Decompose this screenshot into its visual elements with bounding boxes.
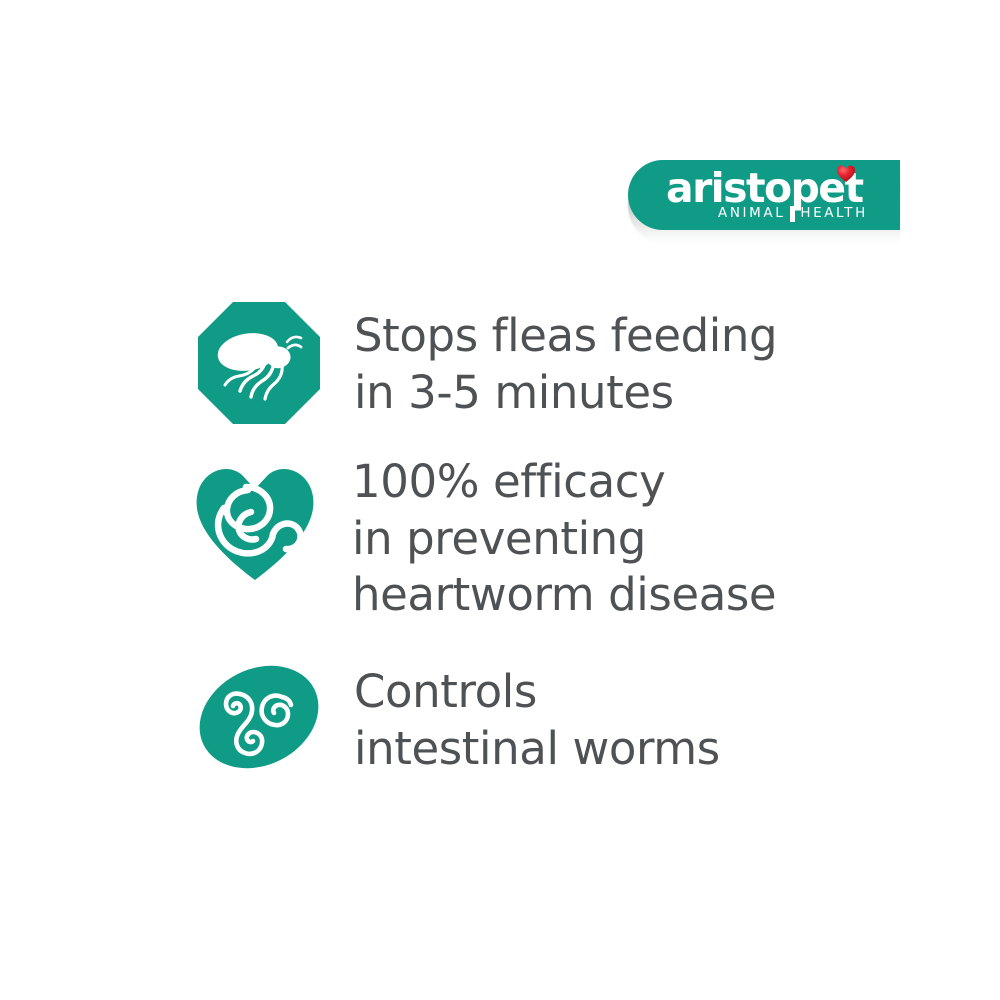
feature-item-intestinal-worms: Controls intestinal worms	[196, 654, 720, 780]
brand-logo-pill: aristopet ® ANIMAL HEALTH	[628, 160, 900, 230]
feature-label-heartworm-efficacy: 100% efficacy in preventing heartworm di…	[322, 452, 776, 624]
brand-tagline: ANIMAL HEALTH	[718, 206, 868, 222]
registered-trademark-symbol: ®	[852, 194, 858, 202]
heart-icon	[835, 162, 857, 184]
flea-stop-octagon-icon	[196, 300, 322, 426]
feature-item-stops-fleas: Stops fleas feeding in 3-5 minutes	[196, 300, 777, 426]
feature-item-heartworm-efficacy: 100% efficacy in preventing heartworm di…	[188, 452, 776, 624]
brand-tagline-health: HEALTH	[800, 207, 868, 221]
heartworm-heart-icon	[188, 452, 322, 586]
feature-label-intestinal-worms: Controls intestinal worms	[322, 654, 720, 777]
intestinal-worms-ellipse-icon	[196, 654, 322, 780]
brand-tagline-animal: ANIMAL	[718, 207, 785, 221]
brand-tagline-divider	[790, 206, 795, 222]
feature-label-stops-fleas: Stops fleas feeding in 3-5 minutes	[322, 300, 777, 421]
brand-wordmark: aristopet	[666, 168, 862, 209]
brand-logo: aristopet ® ANIMAL HEALTH	[628, 160, 900, 238]
